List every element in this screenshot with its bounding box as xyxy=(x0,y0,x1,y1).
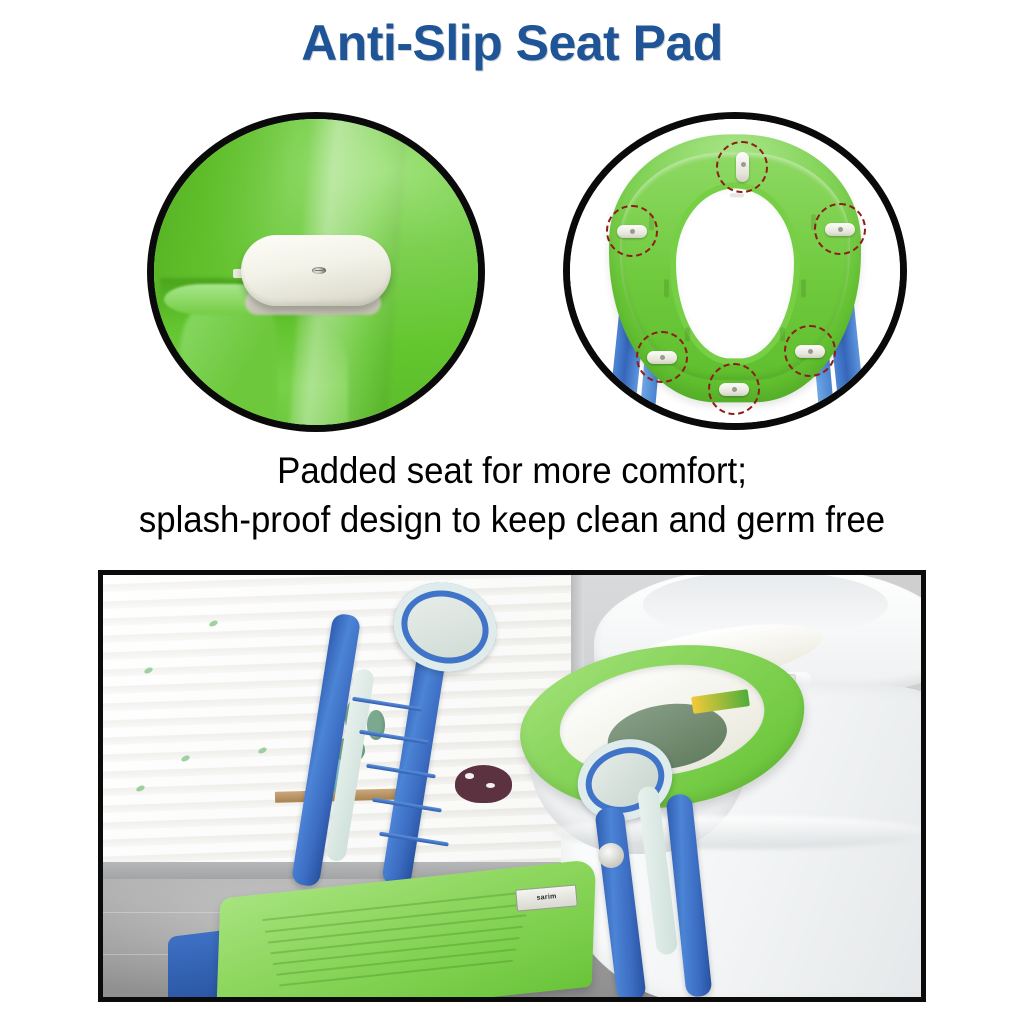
polka-dot-decor xyxy=(455,765,512,803)
pad-marker-upper-right xyxy=(814,203,866,255)
pad-marker-lower-left xyxy=(636,331,688,383)
product-feature-image: Anti-Slip Seat Pad xyxy=(0,0,1024,1024)
anti-slip-pad xyxy=(736,152,749,182)
lifestyle-bathroom-photo: sarim xyxy=(98,570,926,1002)
anti-slip-pad xyxy=(825,223,855,236)
anti-slip-pad xyxy=(617,225,647,238)
page-title: Anti-Slip Seat Pad xyxy=(0,14,1024,72)
seat-recess-inner xyxy=(180,296,277,432)
anti-slip-pad xyxy=(719,383,749,396)
photo-canvas: sarim xyxy=(103,575,921,997)
anti-slip-pad xyxy=(795,345,825,358)
pad-marker-upper-left xyxy=(606,205,658,257)
pad-marker-lower-right xyxy=(784,325,836,377)
caption-line-1: Padded seat for more comfort; xyxy=(31,446,994,495)
anti-slip-pad-closeup-circle xyxy=(147,112,485,432)
pad-marker-top-center xyxy=(716,141,768,193)
pad-marker-bottom-center xyxy=(708,363,760,415)
anti-slip-pad xyxy=(647,351,677,364)
inset-circles-row xyxy=(0,108,1024,438)
anti-slip-pad xyxy=(241,235,390,305)
caption-line-2: splash-proof design to keep clean and ge… xyxy=(31,495,994,544)
pad-screw-icon xyxy=(312,267,327,274)
seat-underside-circle xyxy=(563,112,907,430)
feature-caption: Padded seat for more comfort; splash-pro… xyxy=(31,446,994,544)
